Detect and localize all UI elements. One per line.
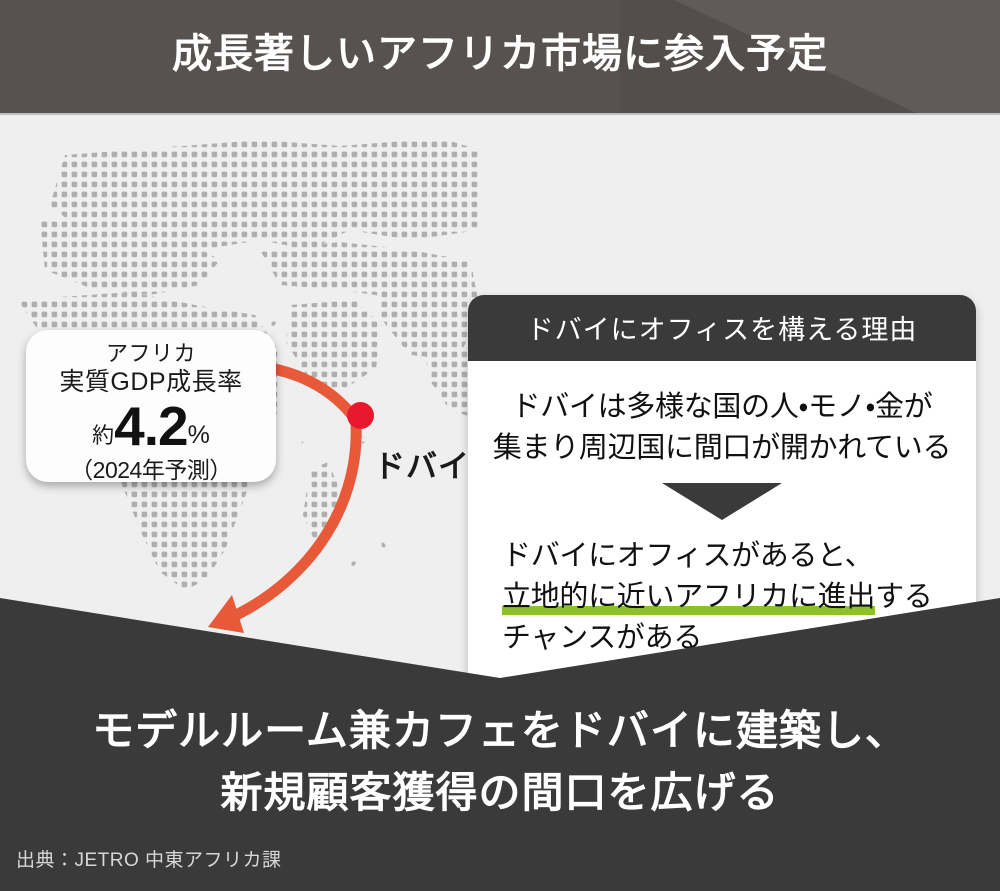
page-title: 成長著しいアフリカ市場に参入予定 bbox=[0, 26, 1000, 82]
flow-arrow bbox=[490, 483, 954, 520]
highlighted-phrase: 立地的に近いアフリカに進出 bbox=[502, 581, 875, 615]
triangle-down-icon bbox=[662, 483, 782, 520]
reason-block-one-line1: ドバイは多様な国の人・モノ・金が bbox=[490, 387, 954, 428]
reason-block-two: ドバイにオフィスがあると、 立地的に近いアフリカに進出する チャンスがある bbox=[490, 536, 954, 659]
source-citation: 出典：JETRO 中東アフリカ課 bbox=[16, 845, 282, 872]
reason-block-two-line2: 立地的に近いアフリカに進出する bbox=[502, 577, 954, 618]
gdp-value-row: 約4.2% bbox=[26, 399, 276, 454]
reason-block-two-line3: チャンスがある bbox=[502, 618, 954, 659]
conclusion-line2: 新規顧客獲得の間口を広げる bbox=[0, 762, 1000, 824]
gdp-callout-line1: アフリカ bbox=[26, 340, 276, 367]
conclusion-text: モデルルーム兼カフェをドバイに建築し、 新規顧客獲得の間口を広げる bbox=[0, 700, 1000, 824]
gdp-value: 4.2 bbox=[114, 395, 187, 457]
reason-card-heading: ドバイにオフィスを構える理由 bbox=[468, 295, 976, 361]
dubai-marker-dot bbox=[347, 402, 374, 429]
conclusion-line1: モデルルーム兼カフェをドバイに建築し、 bbox=[0, 700, 1000, 762]
infographic-slide: 成長著しいアフリカ市場に参入予定 bbox=[0, 0, 1000, 891]
gdp-callout-line2: 実質GDP成長率 bbox=[26, 367, 276, 397]
reason-card-body: ドバイは多様な国の人・モノ・金が 集まり周辺国に間口が開かれている ドバイにオフ… bbox=[468, 361, 976, 680]
gdp-unit: % bbox=[188, 421, 210, 449]
reason-block-one: ドバイは多様な国の人・モノ・金が 集まり周辺国に間口が開かれている bbox=[490, 387, 954, 469]
reason-block-two-line2-tail: する bbox=[875, 581, 932, 613]
reason-block-one-line2: 集まり周辺国に間口が開かれている bbox=[490, 428, 954, 469]
header-band: 成長著しいアフリカ市場に参入予定 bbox=[0, 0, 1000, 113]
africa-gdp-callout: アフリカ 実質GDP成長率 約4.2% （2024年予測） bbox=[26, 330, 276, 482]
gdp-forecast-note: （2024年予測） bbox=[26, 456, 276, 484]
content-stage: ドバイ アフリカ 実質GDP成長率 約4.2% （2024年予測） ドバイにオフ… bbox=[0, 115, 1000, 680]
dubai-marker-label: ドバイ bbox=[374, 441, 470, 486]
reason-block-two-line1: ドバイにオフィスがあると、 bbox=[502, 536, 954, 577]
reason-card: ドバイにオフィスを構える理由 ドバイは多様な国の人・モノ・金が 集まり周辺国に間… bbox=[468, 295, 976, 680]
gdp-approx-label: 約 bbox=[92, 423, 114, 448]
